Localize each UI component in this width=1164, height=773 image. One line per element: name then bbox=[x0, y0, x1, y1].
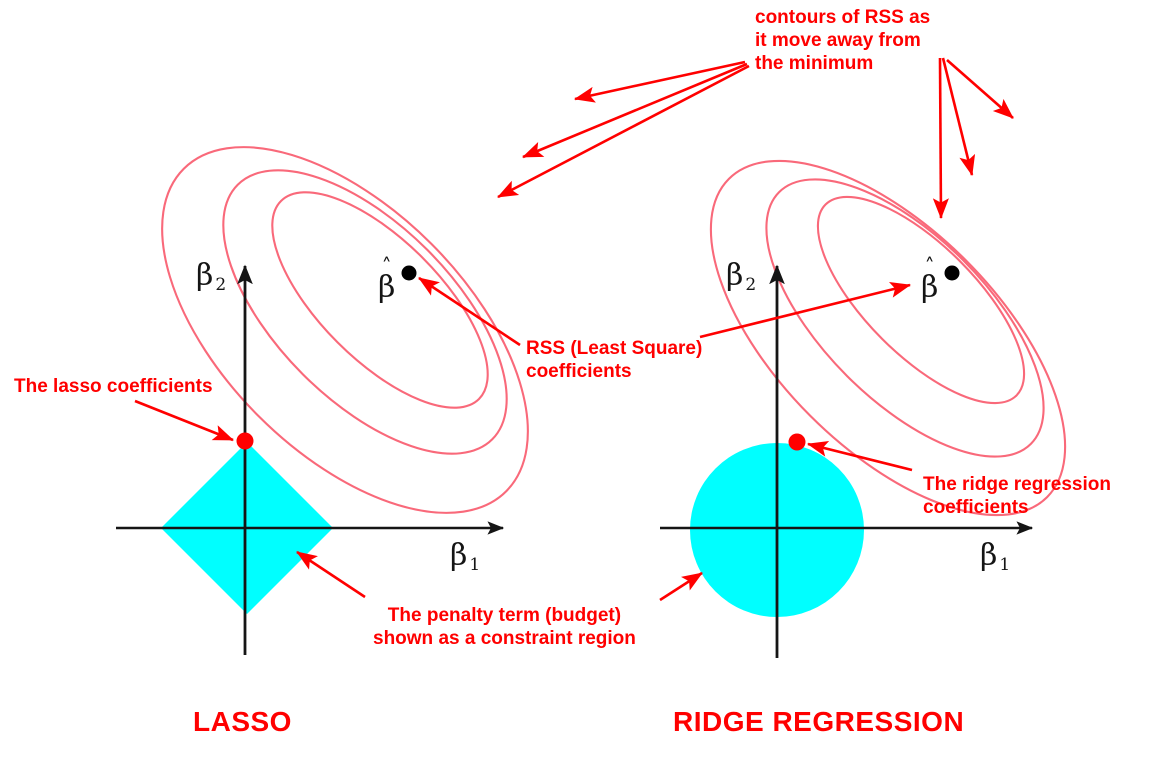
ridge-beta-hat-symbol: ˄ β bbox=[921, 262, 938, 303]
ridge-y-axis-label-sub: 2 bbox=[745, 275, 756, 295]
ridge-x-axis-label-text: β bbox=[980, 538, 997, 573]
ridge-least-squares-point bbox=[945, 266, 960, 281]
lasso-y-axis-label: β2 bbox=[196, 258, 224, 293]
lasso-y-axis-label-text: β bbox=[196, 258, 213, 293]
arrow-contours-to-ridge-inner bbox=[940, 58, 941, 218]
lasso-panel-graphics bbox=[98, 83, 593, 655]
annotation-contours-note: contours of RSS as it move away from the… bbox=[755, 6, 930, 75]
lasso-least-squares-point bbox=[402, 266, 417, 281]
ridge-solution-point bbox=[789, 434, 806, 451]
arrow-contours-to-lasso-inner bbox=[498, 66, 749, 197]
figure-canvas: contours of RSS as it move away from the… bbox=[0, 0, 1164, 773]
ridge-x-axis-label: β1 bbox=[980, 538, 1008, 573]
ridge-panel-graphics bbox=[651, 101, 1125, 658]
lasso-beta-hat-symbol: ˄ β bbox=[378, 262, 395, 303]
arrow-penalty-term bbox=[297, 552, 365, 597]
annotation-lasso-coefficients: The lasso coefficients bbox=[14, 375, 213, 398]
lasso-contour-middle bbox=[175, 122, 554, 501]
lasso-x-axis-label-text: β bbox=[450, 538, 467, 573]
panel-title-lasso: LASSO bbox=[193, 706, 292, 738]
ridge-beta-hat-beta: β bbox=[921, 273, 938, 303]
annotation-rss-coefficients: RSS (Least Square) coefficients bbox=[526, 337, 702, 383]
arrow-lasso-coefficients bbox=[135, 401, 233, 440]
ridge-x-axis-label-sub: 1 bbox=[999, 555, 1010, 575]
lasso-beta-hat-beta: β bbox=[378, 273, 395, 303]
panel-title-ridge-regression: RIDGE REGRESSION bbox=[673, 706, 964, 738]
lasso-y-axis-label-sub: 2 bbox=[215, 275, 226, 295]
arrow-contours-to-lasso-middle bbox=[523, 64, 747, 157]
lasso-rss-contours bbox=[98, 83, 593, 578]
annotation-penalty-term: The penalty term (budget) shown as a con… bbox=[373, 604, 636, 650]
lasso-contour-outer bbox=[98, 83, 593, 578]
lasso-x-axis-label: β1 bbox=[450, 538, 478, 573]
arrow-penalty-term-ridge bbox=[660, 573, 702, 600]
ridge-y-axis-label: β2 bbox=[726, 258, 754, 293]
ridge-y-axis-label-text: β bbox=[726, 258, 743, 293]
annotation-ridge-coefficients: The ridge regression coefficients bbox=[923, 473, 1111, 519]
lasso-x-axis-label-sub: 1 bbox=[469, 555, 480, 575]
lasso-solution-point bbox=[237, 433, 254, 450]
arrow-contours-to-ridge-middle bbox=[943, 58, 972, 175]
